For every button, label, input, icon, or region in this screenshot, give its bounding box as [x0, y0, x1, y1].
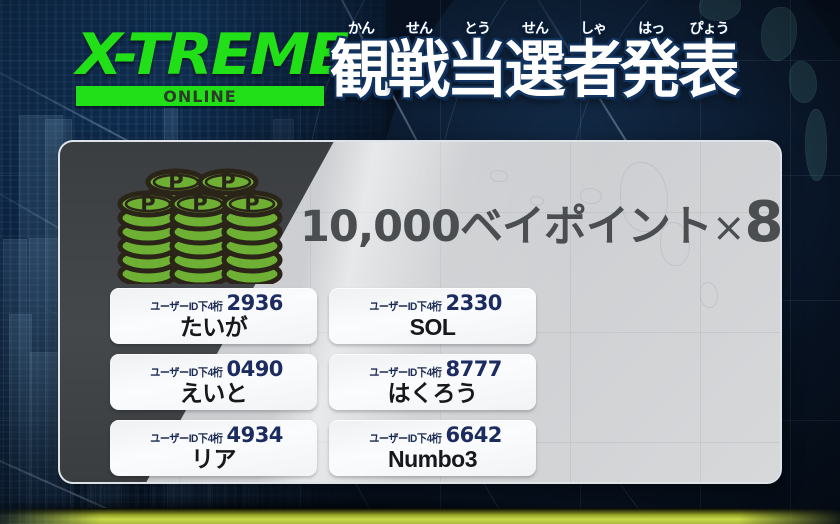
winner-id-value: 8777: [445, 359, 501, 380]
winner-card: ユーザーID下4桁8777はくろう: [329, 354, 536, 410]
winner-id-row: ユーザーID下4桁0490: [144, 359, 283, 380]
winners-panel: PPPPP 10,000ベイポイント×8名 ユーザーID下4桁2936たいがユー…: [58, 140, 782, 484]
logo-sub-label: ONLINE: [163, 87, 236, 106]
winner-id-value: 2936: [226, 293, 282, 314]
title-char-観: かん観: [330, 18, 392, 104]
winner-id-value: 4934: [226, 425, 282, 446]
winner-id-label: ユーザーID下4桁: [369, 302, 441, 313]
title-furigana: はっ: [638, 18, 664, 38]
coin-stack-graphic: PPPPP: [110, 160, 288, 284]
title-char-戦: せん戦: [388, 18, 450, 104]
title-char-当: とう当: [446, 18, 508, 104]
coin-letter: P: [168, 170, 183, 194]
title-furigana: せん: [522, 18, 548, 38]
coin-stack: P: [224, 192, 280, 284]
title-char-選: せん選: [504, 18, 566, 104]
winner-id-label: ユーザーID下4桁: [150, 302, 222, 313]
winner-name: SOL: [410, 315, 456, 339]
title-furigana: せん: [406, 18, 432, 38]
prize-amount: 10,000: [300, 202, 460, 252]
winner-name: たいが: [180, 315, 248, 339]
winner-id-label: ユーザーID下4桁: [369, 368, 441, 379]
winner-name: えいと: [180, 381, 248, 405]
winner-id-row: ユーザーID下4桁6642: [363, 425, 502, 446]
winner-id-label: ユーザーID下4桁: [369, 434, 441, 445]
winner-id-value: 2330: [445, 293, 501, 314]
title-furigana: とう: [464, 18, 490, 38]
coin-letter: P: [140, 192, 155, 216]
coin-letter: P: [220, 170, 235, 194]
winner-card: ユーザーID下4桁0490えいと: [110, 354, 317, 410]
page-title: かん観せん戦とう当せん選しゃ者はっ発ぴょう表: [330, 18, 736, 104]
winner-name: はくろう: [388, 381, 478, 405]
coin-stack: P: [172, 192, 228, 284]
title-char-発: はっ発: [620, 18, 682, 104]
logo-sub-bar: ONLINE: [76, 86, 324, 106]
title-furigana: しゃ: [580, 18, 606, 38]
winner-name: Numbo3: [388, 447, 477, 471]
prize-times-symbol: ×: [712, 205, 745, 251]
winners-grid: ユーザーID下4桁2936たいがユーザーID下4桁2330SOLユーザーID下4…: [60, 288, 780, 484]
winner-id-value: 6642: [445, 425, 501, 446]
prize-row: PPPPP 10,000ベイポイント×8名: [60, 158, 780, 286]
prize-text: 10,000ベイポイント×8名: [300, 190, 782, 255]
coin-stack-icon: PPPPP: [110, 160, 288, 284]
winner-id-label: ユーザーID下4桁: [150, 368, 222, 379]
winner-id-row: ユーザーID下4桁8777: [363, 359, 502, 380]
title-char-者: しゃ者: [562, 18, 624, 104]
winner-id-value: 0490: [226, 359, 282, 380]
coin-stack: P: [120, 192, 176, 284]
winner-card: ユーザーID下4桁2936たいが: [110, 288, 317, 344]
xtreme-online-logo: X-TREME ONLINE: [76, 28, 328, 106]
title-furigana: ぴょう: [690, 18, 729, 38]
header: X-TREME ONLINE かん観せん戦とう当せん選しゃ者はっ発ぴょう表: [0, 0, 840, 136]
title-char-表: ぴょう表: [678, 18, 740, 104]
winner-name: リア: [191, 447, 236, 471]
winner-card: ユーザーID下4桁4934リア: [110, 420, 317, 476]
winner-id-row: ユーザーID下4桁2936: [144, 293, 283, 314]
winner-id-row: ユーザーID下4桁4934: [144, 425, 283, 446]
prize-count: 8: [744, 190, 782, 255]
winner-id-row: ユーザーID下4桁2330: [363, 293, 502, 314]
coin-letter: P: [244, 192, 259, 216]
field-strip: [0, 508, 840, 524]
winner-card: ユーザーID下4桁6642Numbo3: [329, 420, 536, 476]
winner-card: ユーザーID下4桁2330SOL: [329, 288, 536, 344]
winner-id-label: ユーザーID下4桁: [150, 434, 222, 445]
coin-letter: P: [192, 192, 207, 216]
logo-wordmark: X-TREME: [76, 28, 343, 82]
title-furigana: かん: [348, 18, 374, 38]
prize-unit: ベイポイント: [460, 202, 712, 252]
